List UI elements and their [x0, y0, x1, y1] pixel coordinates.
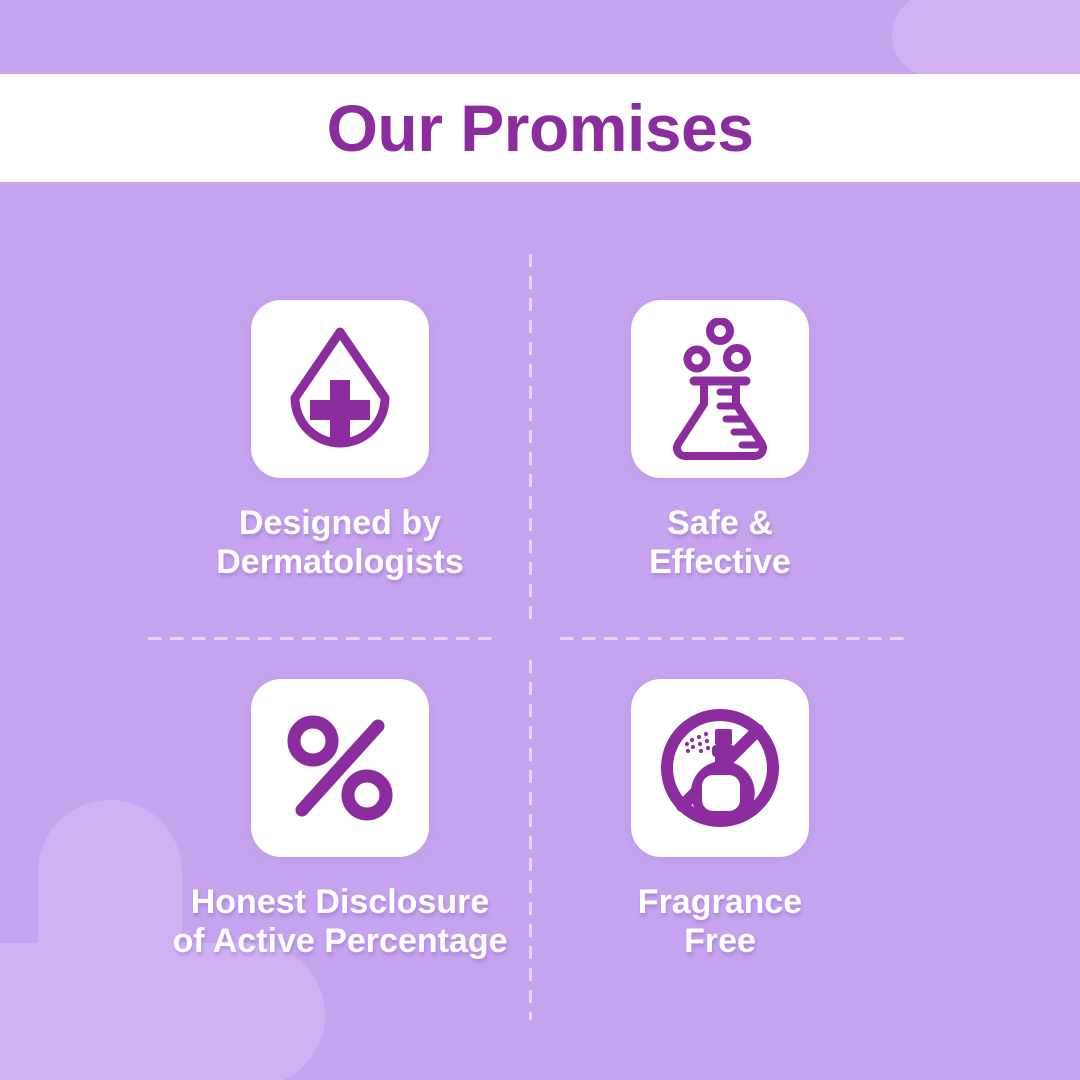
page-title: Our Promises [327, 95, 754, 161]
promise-label: Honest Disclosure of Active Percentage [172, 883, 507, 962]
promise-item-safe-effective: Safe & Effective [510, 300, 930, 583]
promise-label: Designed by Dermatologists [216, 504, 464, 583]
icon-card [251, 679, 429, 857]
horizontal-divider-right [560, 637, 910, 640]
no-fragrance-perfume-icon [658, 706, 782, 830]
promise-label: Fragrance Free [638, 883, 802, 962]
icon-card [631, 679, 809, 857]
percent-sign-icon [285, 713, 395, 823]
icon-card [631, 300, 809, 478]
title-band: Our Promises [0, 74, 1080, 182]
promises-grid: Designed by Dermatologists [0, 182, 1080, 1080]
promise-item-designed-by-dermatologists: Designed by Dermatologists [115, 300, 565, 583]
droplet-medical-cross-icon [281, 324, 399, 454]
flask-bubbles-icon [664, 318, 776, 460]
promise-item-honest-disclosure: Honest Disclosure of Active Percentage [100, 679, 580, 962]
promise-item-fragrance-free: Fragrance Free [510, 679, 930, 962]
promises-infographic: Our Promises Designed by Dermatologists [0, 0, 1080, 1080]
horizontal-divider-left [148, 637, 500, 640]
promise-label: Safe & Effective [649, 504, 791, 583]
icon-card [251, 300, 429, 478]
